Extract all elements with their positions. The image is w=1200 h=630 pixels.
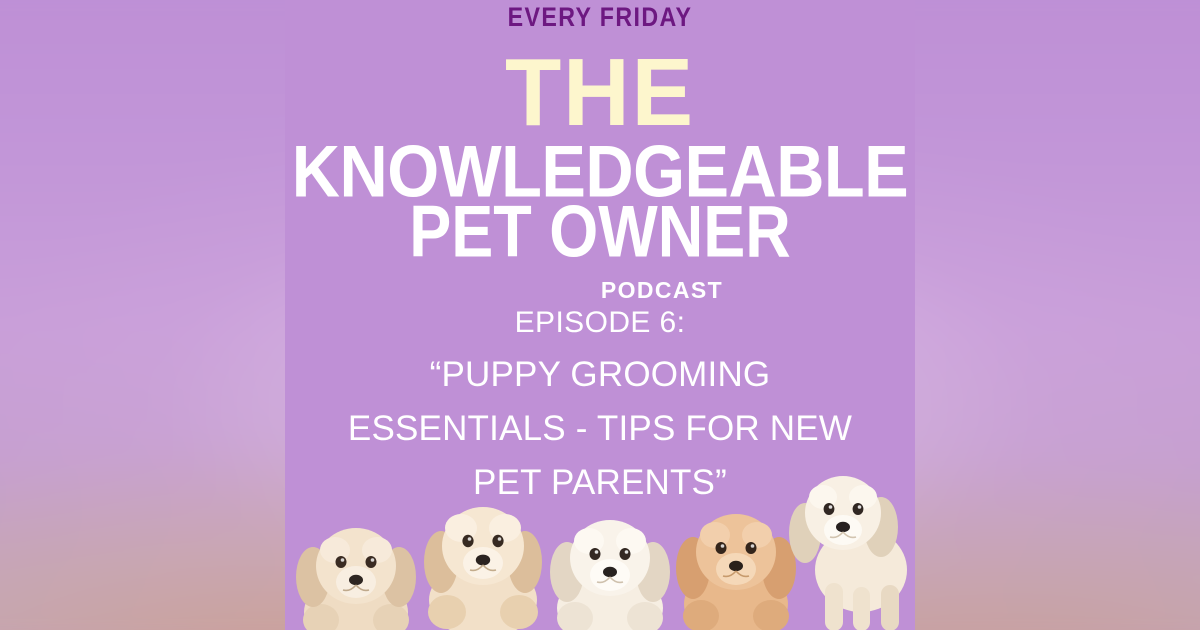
puppy-4-body: [676, 514, 796, 630]
puppy-row-artwork: [285, 455, 915, 630]
puppy-1-body: [296, 528, 416, 630]
episode-title-line-2: ESSENTIALS - TIPS FOR NEW: [320, 402, 880, 456]
puppy-5-body: [789, 476, 907, 630]
podcast-cover-card: EVERY FRIDAY THE KNOWLEDGEABLE PET OWNER…: [285, 0, 915, 630]
puppy-3: [543, 490, 678, 630]
title-line-the: THE: [298, 45, 903, 141]
podcast-cover-frame: EVERY FRIDAY THE KNOWLEDGEABLE PET OWNER…: [0, 0, 1200, 630]
puppy-2: [413, 470, 553, 630]
puppy-5: [783, 455, 915, 630]
schedule-kicker: EVERY FRIDAY: [329, 2, 871, 32]
puppy-1: [291, 500, 421, 630]
format-label: PODCAST: [285, 277, 915, 303]
episode-number: EPISODE 6:: [285, 305, 915, 341]
title-line-pet-owner: PET OWNER: [285, 196, 915, 269]
puppy-2-body: [424, 507, 542, 630]
puppy-3-body: [550, 520, 670, 630]
episode-title-line-1: “PUPPY GROOMING: [320, 348, 880, 402]
